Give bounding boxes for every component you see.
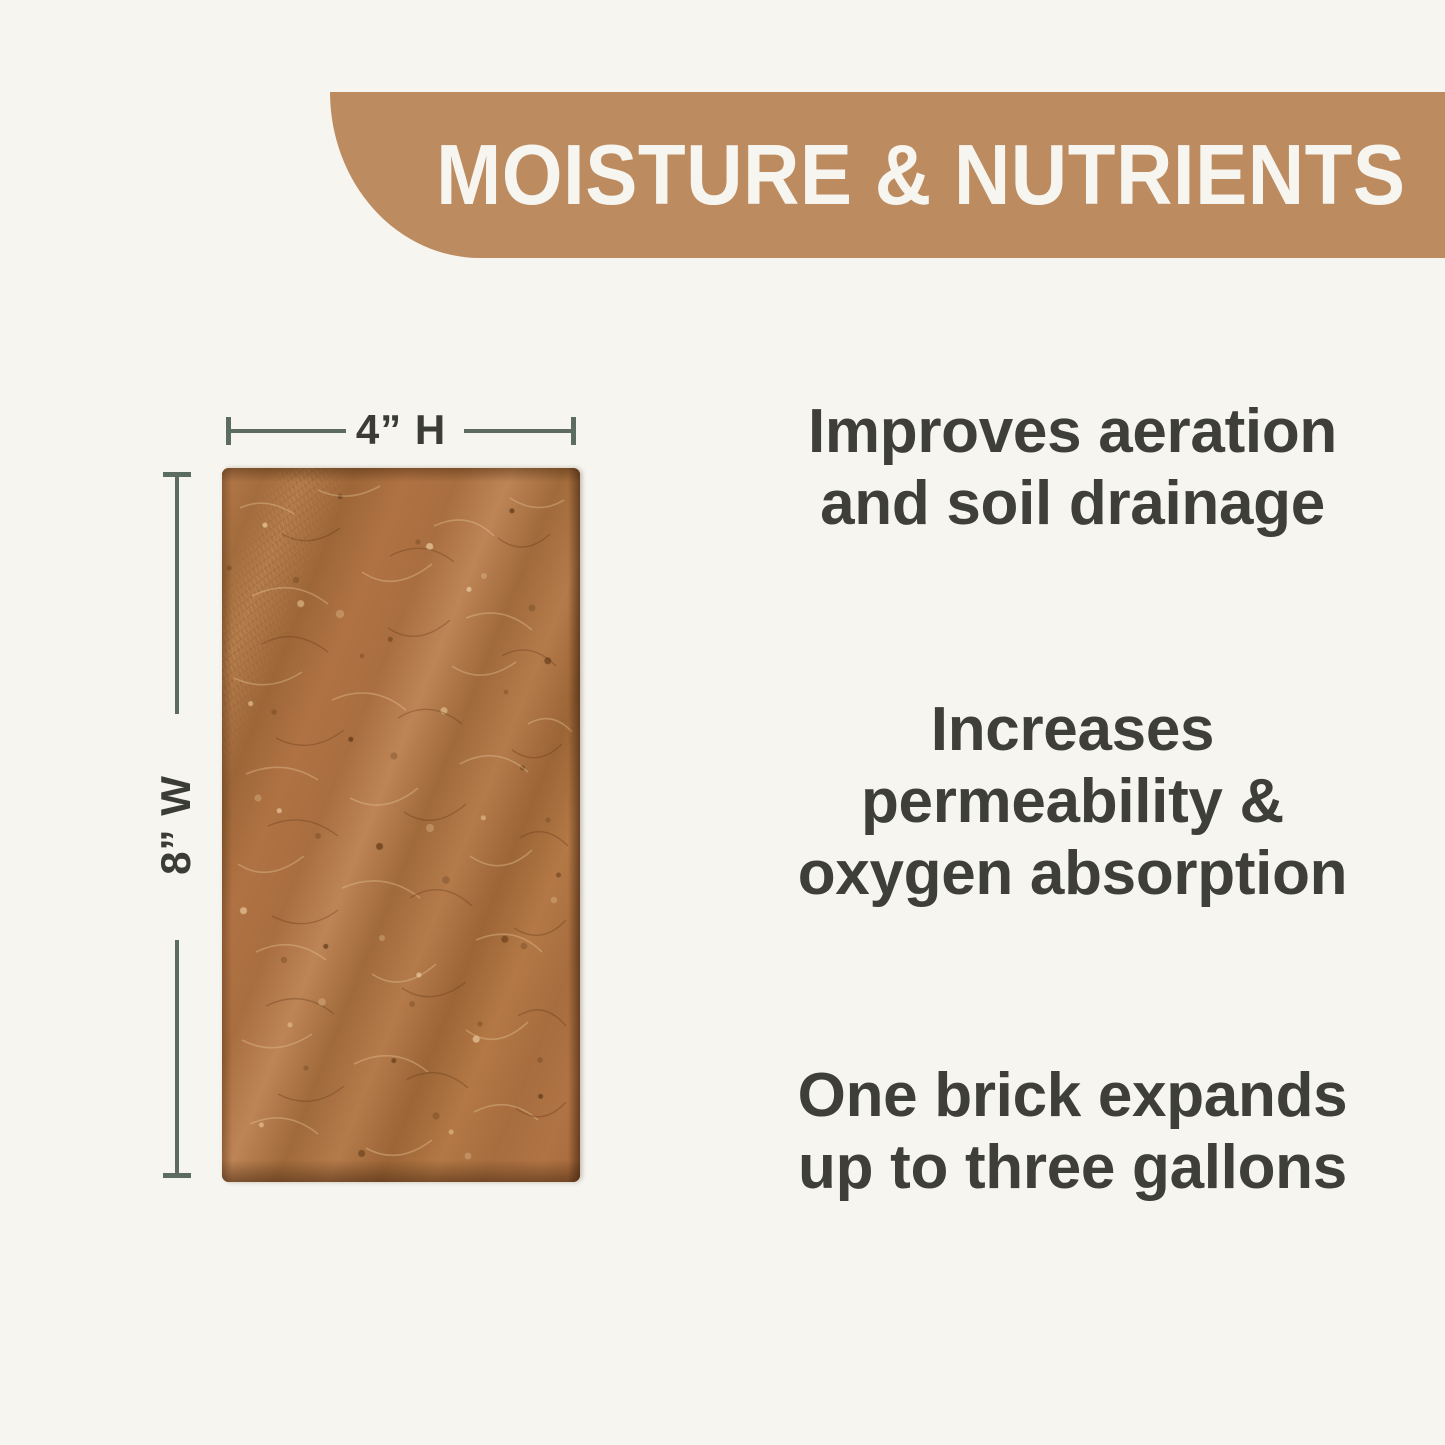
- benefit-line: Increases: [720, 694, 1425, 766]
- benefit-line: and soil drainage: [720, 468, 1425, 540]
- coir-brick-image: [222, 468, 580, 1182]
- ruler-line-top: [175, 474, 179, 714]
- benefit-line: Improves aeration: [720, 396, 1425, 468]
- benefit-line: permeability &: [720, 766, 1425, 838]
- brick-fiber-overlay: [222, 468, 580, 1182]
- brick-right-edge: [568, 468, 580, 1182]
- dimension-ruler-vertical: 8” W: [158, 468, 194, 1182]
- ruler-cap-bottom-icon: [163, 1173, 191, 1178]
- brick-bottom-edge: [222, 1160, 580, 1182]
- ruler-line-right: [464, 429, 574, 433]
- product-figure: 4” H 8” W: [0, 0, 700, 1445]
- brick-top-edge: [222, 468, 580, 482]
- benefit-item-expansion: One brick expands up to three gallons: [720, 1060, 1425, 1204]
- benefits-list: Improves aeration and soil drainage Incr…: [700, 0, 1445, 1445]
- ruler-line-bottom: [175, 940, 179, 1176]
- benefit-item-permeability: Increases permeability & oxygen absorpti…: [720, 694, 1425, 910]
- brick-left-edge: [222, 468, 232, 1182]
- ruler-cap-right-icon: [571, 417, 576, 445]
- benefit-item-aeration: Improves aeration and soil drainage: [720, 396, 1425, 540]
- dimension-label-height: 8” W: [154, 775, 198, 875]
- dimension-ruler-horizontal: 4” H: [222, 412, 580, 448]
- benefit-line: oxygen absorption: [720, 838, 1425, 910]
- benefit-line: One brick expands: [720, 1060, 1425, 1132]
- benefit-line: up to three gallons: [720, 1132, 1425, 1204]
